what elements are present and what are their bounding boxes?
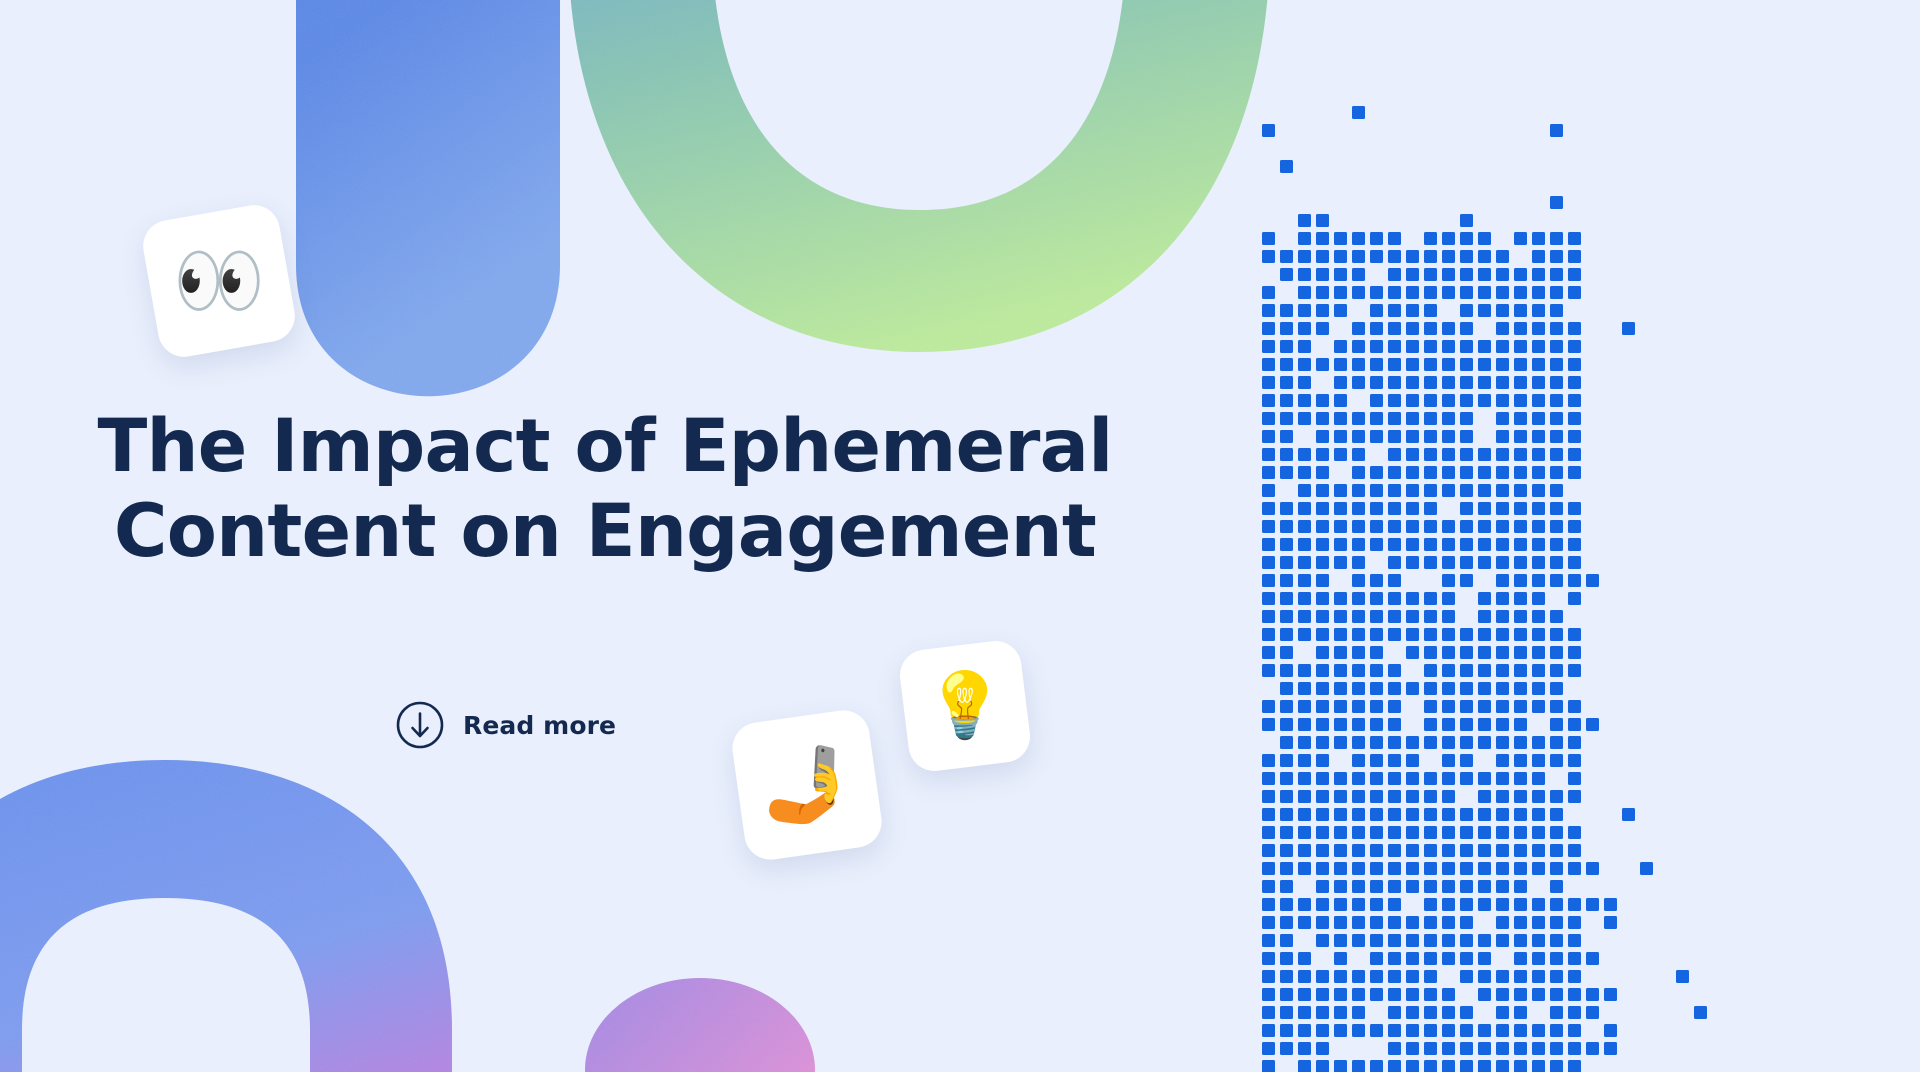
page-title-line-1: The Impact of Ephemeral — [60, 405, 1150, 490]
eyes-emoji: 👀 — [173, 244, 265, 318]
pixel-grid-svg — [1262, 0, 1802, 1072]
read-more-button[interactable]: Read more — [395, 700, 616, 750]
read-more-label: Read more — [463, 711, 616, 740]
page-title-line-2: Content on Engagement — [60, 490, 1150, 575]
emoji-card-lightbulb[interactable]: 💡 — [897, 638, 1033, 774]
hero-content: The Impact of Ephemeral Content on Engag… — [0, 0, 1210, 1072]
circle-arrow-down-icon — [395, 700, 445, 750]
page-title: The Impact of Ephemeral Content on Engag… — [60, 405, 1150, 574]
blue-pixel-grid — [1262, 0, 1802, 1072]
lightbulb-emoji: 💡 — [925, 674, 1005, 738]
emoji-card-eyes[interactable]: 👀 — [139, 201, 299, 361]
selfie-emoji: 🤳 — [761, 748, 853, 822]
emoji-card-selfie[interactable]: 🤳 — [729, 707, 885, 863]
hero-section: The Impact of Ephemeral Content on Engag… — [0, 0, 1920, 1072]
